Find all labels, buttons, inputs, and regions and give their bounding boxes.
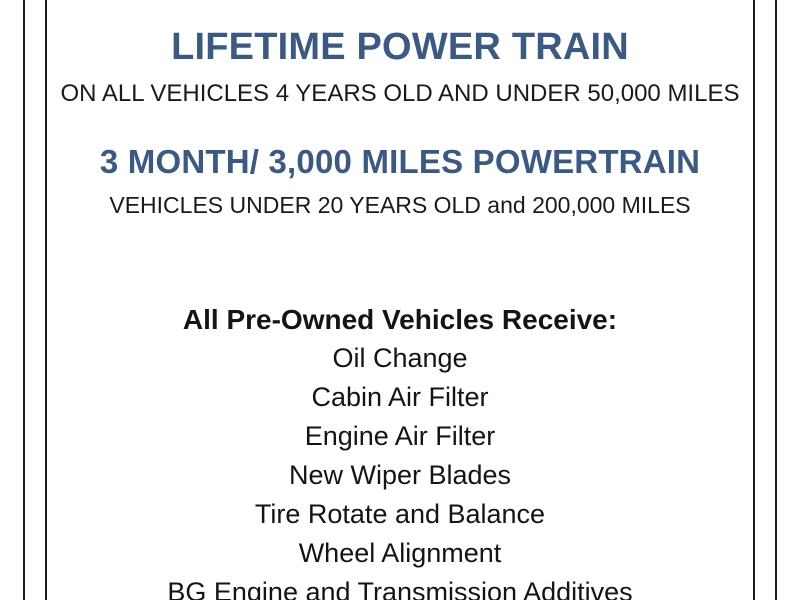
service-item: Cabin Air Filter	[47, 378, 753, 417]
service-item: Oil Change	[47, 339, 753, 378]
border-rule-right-inner	[753, 0, 755, 600]
three-month-powertrain-subtitle: VEHICLES UNDER 20 YEARS OLD and 200,000 …	[109, 192, 690, 218]
three-month-powertrain-section: 3 MONTH/ 3,000 MILES POWERTRAIN	[47, 143, 753, 181]
service-item: BG Engine and Transmission Additives	[47, 573, 753, 600]
service-item: Tire Rotate and Balance	[47, 495, 753, 534]
border-rule-right-outer	[775, 0, 777, 600]
warranty-flyer: LIFETIME POWER TRAIN ON ALL VEHICLES 4 Y…	[0, 0, 800, 600]
three-month-powertrain-subtitle-row: VEHICLES UNDER 20 YEARS OLD and 200,000 …	[47, 192, 753, 219]
service-item: New Wiper Blades	[47, 456, 753, 495]
lifetime-powertrain-subtitle: ON ALL VEHICLES 4 YEARS OLD AND UNDER 50…	[61, 80, 740, 107]
service-item: Wheel Alignment	[47, 534, 753, 573]
lifetime-powertrain-title: LIFETIME POWER TRAIN	[171, 26, 629, 68]
border-rule-left-outer	[23, 0, 25, 600]
three-month-powertrain-title: 3 MONTH/ 3,000 MILES POWERTRAIN	[100, 143, 700, 180]
pre-owned-services-heading: All Pre-Owned Vehicles Receive:	[47, 300, 753, 339]
service-item: Engine Air Filter	[47, 417, 753, 456]
pre-owned-services-list: Oil ChangeCabin Air FilterEngine Air Fil…	[47, 339, 753, 600]
lifetime-powertrain-section: LIFETIME POWER TRAIN	[47, 26, 753, 69]
flyer-content: LIFETIME POWER TRAIN ON ALL VEHICLES 4 Y…	[47, 0, 753, 600]
lifetime-powertrain-subtitle-row: ON ALL VEHICLES 4 YEARS OLD AND UNDER 50…	[47, 80, 753, 108]
pre-owned-services-section: All Pre-Owned Vehicles Receive: Oil Chan…	[47, 300, 753, 600]
